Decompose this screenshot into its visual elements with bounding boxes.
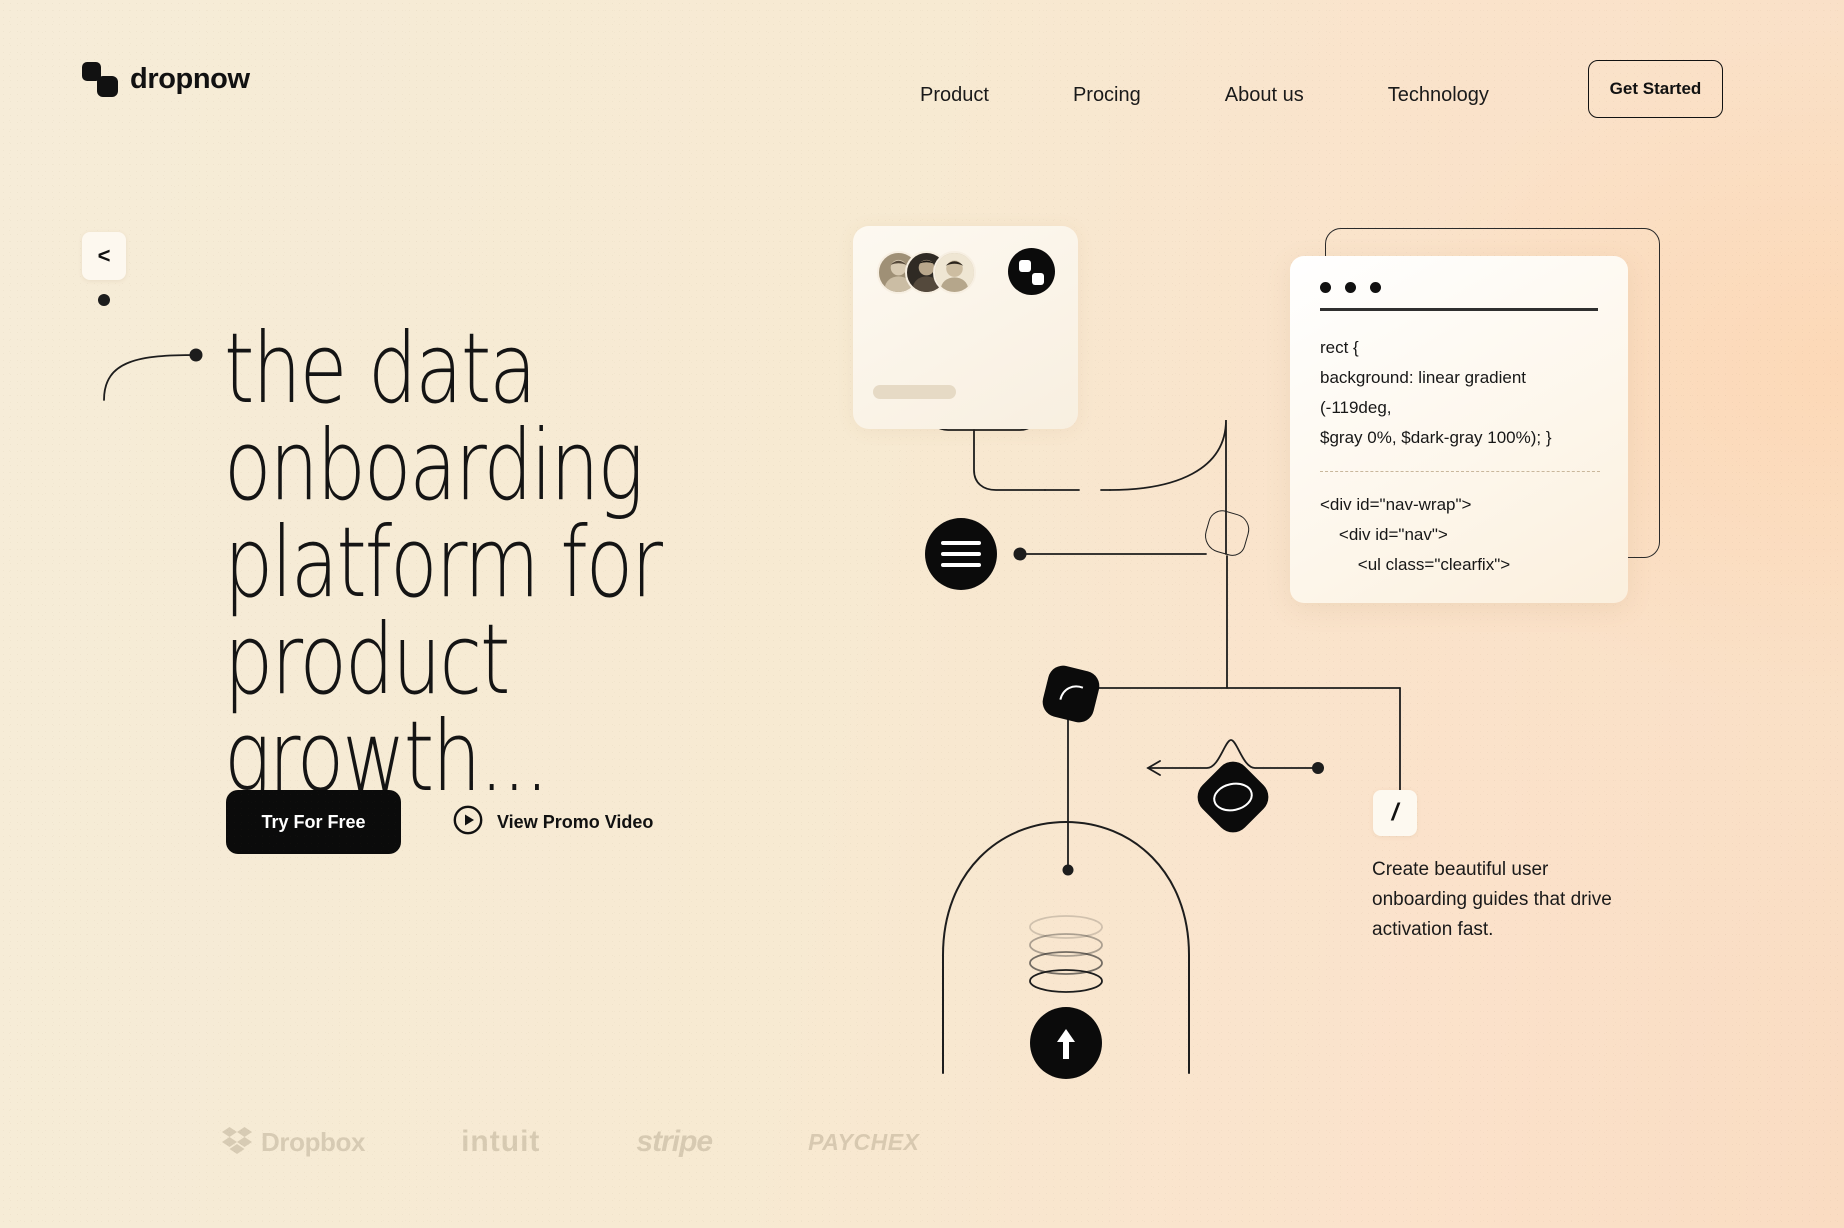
partner-intuit: intuit [461, 1125, 540, 1159]
avatar-group [877, 251, 976, 294]
arrow-up-icon[interactable] [1030, 1007, 1102, 1079]
main-nav: Product Procing About us Technology [920, 78, 1489, 113]
page-title: the data onboarding platform for product… [224, 320, 832, 805]
partner-label: stripe [636, 1125, 712, 1159]
nav-item-product[interactable]: Product [920, 78, 989, 113]
window-dots [1320, 282, 1602, 293]
landing-page: dropnow Product Procing About us Technol… [0, 0, 1844, 1228]
nav-item-technology[interactable]: Technology [1388, 78, 1489, 113]
partner-label: PAYCHEX [808, 1129, 919, 1156]
brand-logo[interactable]: dropnow [82, 62, 250, 96]
hamburger-menu-icon[interactable] [925, 518, 997, 590]
partner-paychex: PAYCHEX [808, 1129, 919, 1156]
slash-badge[interactable]: / [1373, 790, 1417, 836]
avatar-card [853, 226, 1078, 429]
dropbox-icon [222, 1126, 252, 1159]
nav-item-about-us[interactable]: About us [1225, 78, 1304, 113]
site-header: dropnow Product Procing About us Technol… [0, 0, 1844, 150]
nav-item-procing[interactable]: Procing [1073, 78, 1141, 113]
blob-outline-icon [1201, 507, 1253, 559]
css-snippet: rect { background: linear gradient (-119… [1320, 333, 1602, 453]
view-promo-video-link[interactable]: View Promo Video [453, 805, 653, 840]
get-started-button[interactable]: Get Started [1588, 60, 1723, 118]
play-circle-icon [453, 805, 483, 840]
partner-stripe: stripe [636, 1125, 712, 1159]
placeholder-bar [873, 385, 956, 399]
ellipse-icon [1191, 755, 1276, 840]
arc-icon [1039, 662, 1102, 725]
dashed-divider [1320, 471, 1600, 472]
window-dot [1345, 282, 1356, 293]
illustration-caption: Create beautiful user onboarding guides … [1372, 855, 1634, 945]
back-badge[interactable]: < [82, 232, 126, 280]
partner-label: Dropbox [261, 1127, 365, 1158]
partner-logo-strip: Dropbox intuit stripe PAYCHEX [222, 1125, 919, 1159]
partner-dropbox: Dropbox [222, 1126, 365, 1159]
window-dot [1320, 282, 1331, 293]
two-squares-logo-icon [82, 62, 118, 96]
partner-label: intuit [461, 1125, 540, 1159]
avatar [933, 251, 976, 294]
code-card: rect { background: linear gradient (-119… [1290, 256, 1628, 603]
try-for-free-button[interactable]: Try For Free [226, 790, 401, 854]
brand-name: dropnow [130, 63, 250, 96]
html-snippet: <div id="nav-wrap"> <div id="nav"> <ul c… [1320, 490, 1602, 580]
hero-actions: Try For Free View Promo Video [226, 790, 653, 854]
dice-two-icon [1008, 248, 1055, 295]
divider [1320, 308, 1598, 311]
window-dot [1370, 282, 1381, 293]
promo-label: View Promo Video [497, 812, 653, 833]
